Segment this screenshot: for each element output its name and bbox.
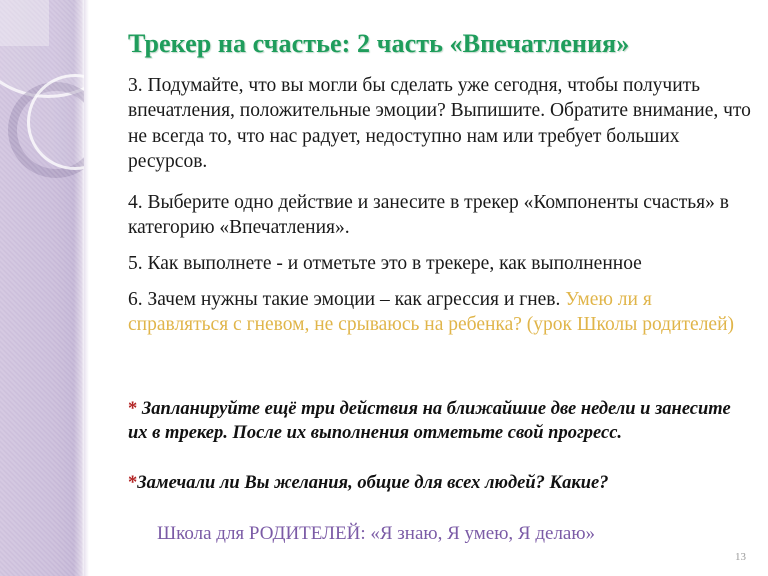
decor-corner-rect-icon [0,0,49,46]
note-2: *Замечали ли Вы желания, общие для всех … [128,472,754,496]
note-1: * Запланируйте ещё три действия на ближа… [128,398,754,445]
asterisk-marker-1: * [128,399,137,419]
decor-ring-light-icon [27,74,84,170]
decorative-side-band [0,0,84,576]
paragraph-5: 5. Как выполнете - и отметьте это в трек… [128,251,754,276]
decor-circle-large-fill-icon [0,0,84,96]
decor-circle-large-icon [0,0,84,98]
paragraph-6-black-text: 6. Зачем нужны такие эмоции – как агресс… [128,289,565,310]
note-2-text: Замечали ли Вы желания, общие для всех л… [137,473,608,493]
slide-content: Трекер на счастье: 2 часть «Впечатления»… [128,0,756,576]
note-1-text: Запланируйте ещё три действия на ближайш… [128,399,731,443]
presentation-slide: Трекер на счастье: 2 часть «Впечатления»… [0,0,768,576]
decorative-band-edge [84,0,89,576]
paragraph-6: 6. Зачем нужны такие эмоции – как агресс… [128,287,754,338]
footer-tagline: Школа для РОДИТЕЛЕЙ: «Я знаю, Я умею, Я … [124,523,628,545]
slide-number: 13 [735,551,746,563]
paragraph-3: 3. Подумайте, что вы могли бы сделать уж… [128,73,754,174]
paragraph-4: 4. Выберите одно действие и занесите в т… [128,190,754,241]
decor-ring-light-fill-icon [30,77,84,167]
asterisk-marker-2: * [128,473,137,493]
page-title: Трекер на счастье: 2 часть «Впечатления» [128,29,756,59]
decor-ring-dark-icon [8,82,84,178]
